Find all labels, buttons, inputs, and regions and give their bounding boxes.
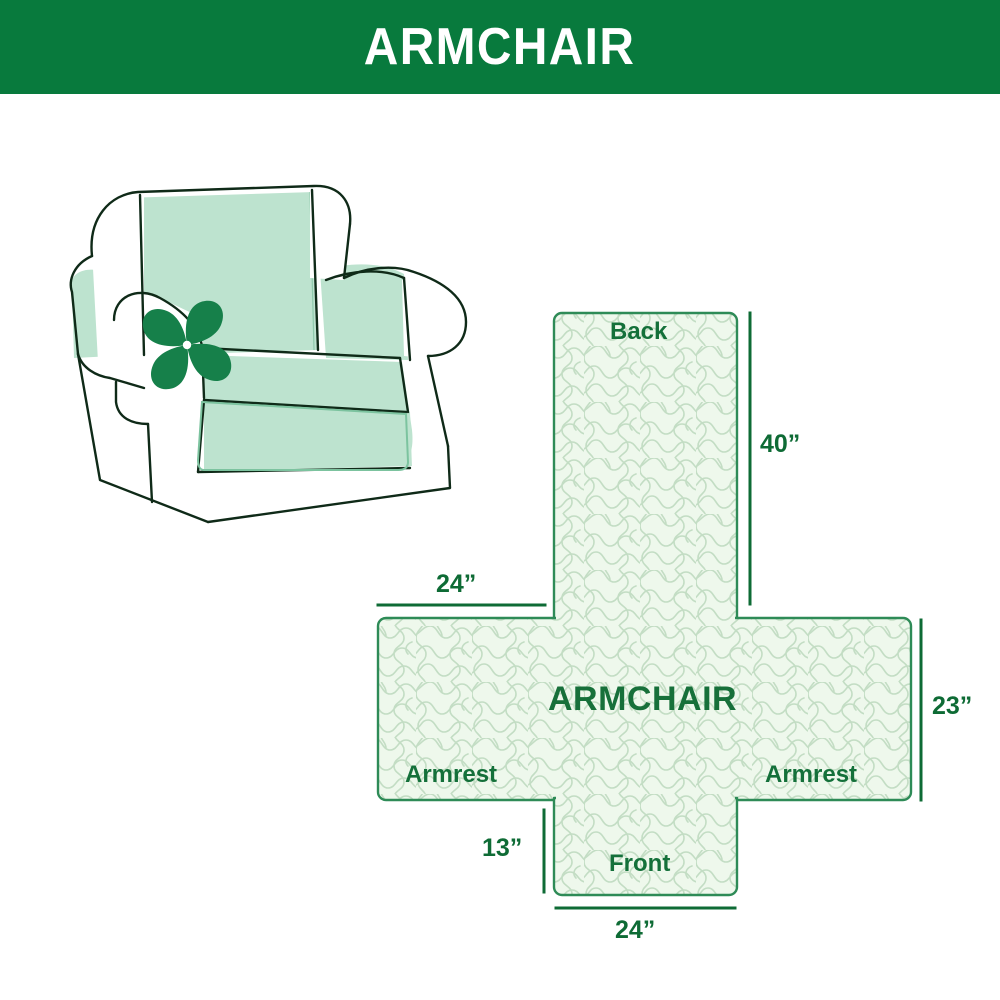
page-title: ARMCHAIR bbox=[364, 21, 635, 73]
header-bar: ARMCHAIR bbox=[0, 0, 1000, 94]
cover-pattern-diagram: Back ARMCHAIR Armrest Armrest Front 40” … bbox=[360, 290, 1000, 970]
label-center-armchair: ARMCHAIR bbox=[548, 682, 737, 716]
piece-back bbox=[554, 313, 737, 620]
joint-bottom bbox=[556, 796, 735, 802]
joint-top bbox=[556, 616, 735, 622]
label-back: Back bbox=[610, 320, 667, 344]
label-armrest-right: Armrest bbox=[765, 763, 857, 787]
dim-label-13: 13” bbox=[482, 836, 522, 861]
dim-label-24-top: 24” bbox=[436, 572, 476, 597]
label-front: Front bbox=[609, 852, 670, 876]
label-armrest-left: Armrest bbox=[405, 763, 497, 787]
dim-label-24-bottom: 24” bbox=[615, 918, 655, 943]
page-root: ARMCHAIR bbox=[0, 0, 1000, 1000]
dim-label-40: 40” bbox=[760, 432, 800, 457]
dim-label-23: 23” bbox=[932, 694, 972, 719]
piece-front bbox=[554, 798, 737, 895]
pattern-diagram-svg bbox=[360, 290, 1000, 970]
